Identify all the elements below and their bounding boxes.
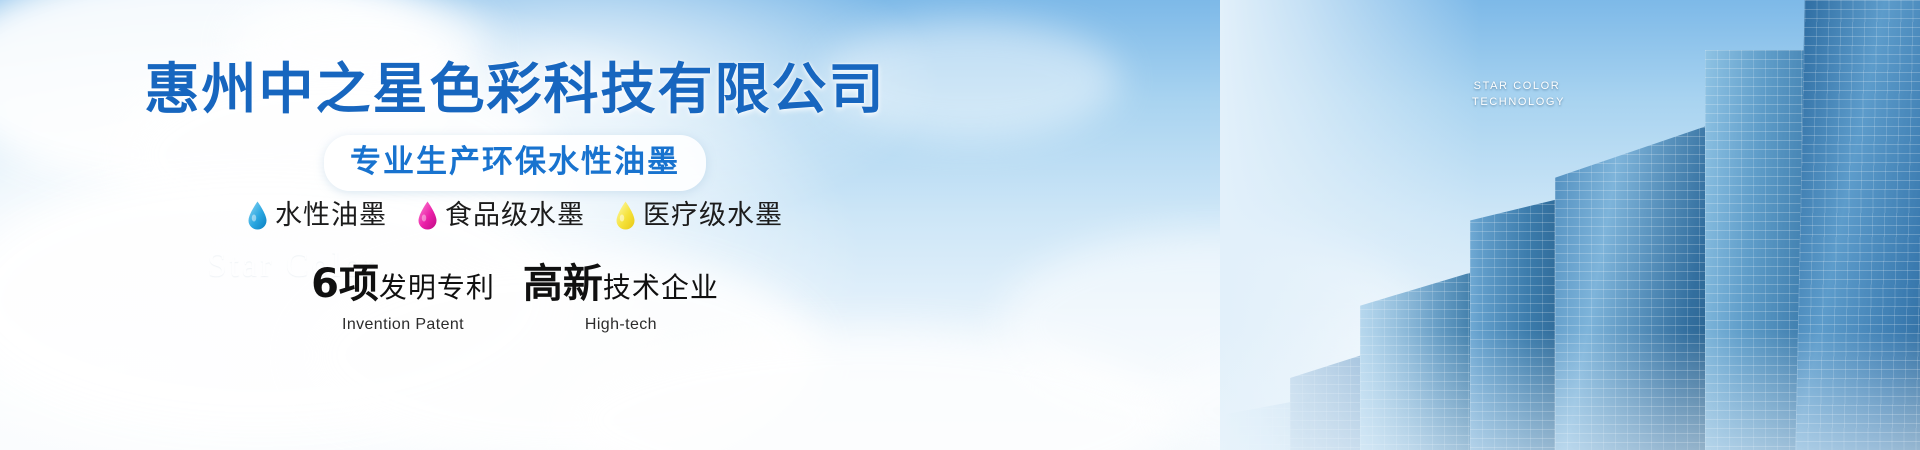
company-title: 惠州中之星色彩科技有限公司: [0, 58, 1030, 120]
ink-item-water-based: 水性油墨: [247, 200, 387, 232]
ink-item-food-grade: 食品级水墨: [417, 200, 585, 232]
subtitle-pill: 专业生产环保水性油墨: [324, 135, 706, 191]
ink-label: 食品级水墨: [445, 200, 585, 232]
water-drop-icon: [615, 201, 636, 231]
badge-english-text: Invention Patent: [311, 316, 495, 334]
ink-label: 水性油墨: [275, 200, 387, 232]
banner-content: 惠州中之星色彩科技有限公司 专业生产环保水性油墨 水性油墨: [0, 0, 1100, 450]
brand-line-1: STAR COLOR: [1472, 78, 1562, 94]
subtitle-row: 专业生产环保水性油墨: [0, 135, 1030, 191]
water-drop-icon: [417, 201, 438, 231]
badge-invention-patent: 6项发明专利 Invention Patent: [311, 262, 495, 334]
ink-feature-list: 水性油墨 食品级水墨: [0, 200, 1030, 232]
badge-chinese-rest: 技术企业: [603, 271, 719, 304]
badge-chinese-text: 6项发明专利: [311, 262, 495, 314]
badge-number: 高新: [523, 261, 603, 307]
atmospheric-haze: [1220, 330, 1920, 450]
ink-item-medical-grade: 医疗级水墨: [615, 200, 783, 232]
badge-chinese-rest: 发明专利: [379, 271, 495, 304]
water-drop-icon: [247, 201, 268, 231]
badge-english-text: High-tech: [523, 316, 719, 334]
badge-high-tech: 高新技术企业 High-tech: [523, 262, 719, 334]
brand-line-2: TECHNOLOGY: [1472, 94, 1562, 110]
badge-chinese-text: 高新技术企业: [523, 262, 719, 314]
credential-badges: 6项发明专利 Invention Patent 高新技术企业 High-tech: [0, 262, 1030, 334]
hero-banner: Star Color STAR COLOR TECHNOLOGY 惠州中之星色彩…: [0, 0, 1920, 450]
badge-number: 6项: [311, 261, 379, 307]
skyline-illustration: [1220, 0, 1920, 450]
ink-label: 医疗级水墨: [643, 200, 783, 232]
brand-mark-right: STAR COLOR TECHNOLOGY: [1472, 78, 1562, 110]
